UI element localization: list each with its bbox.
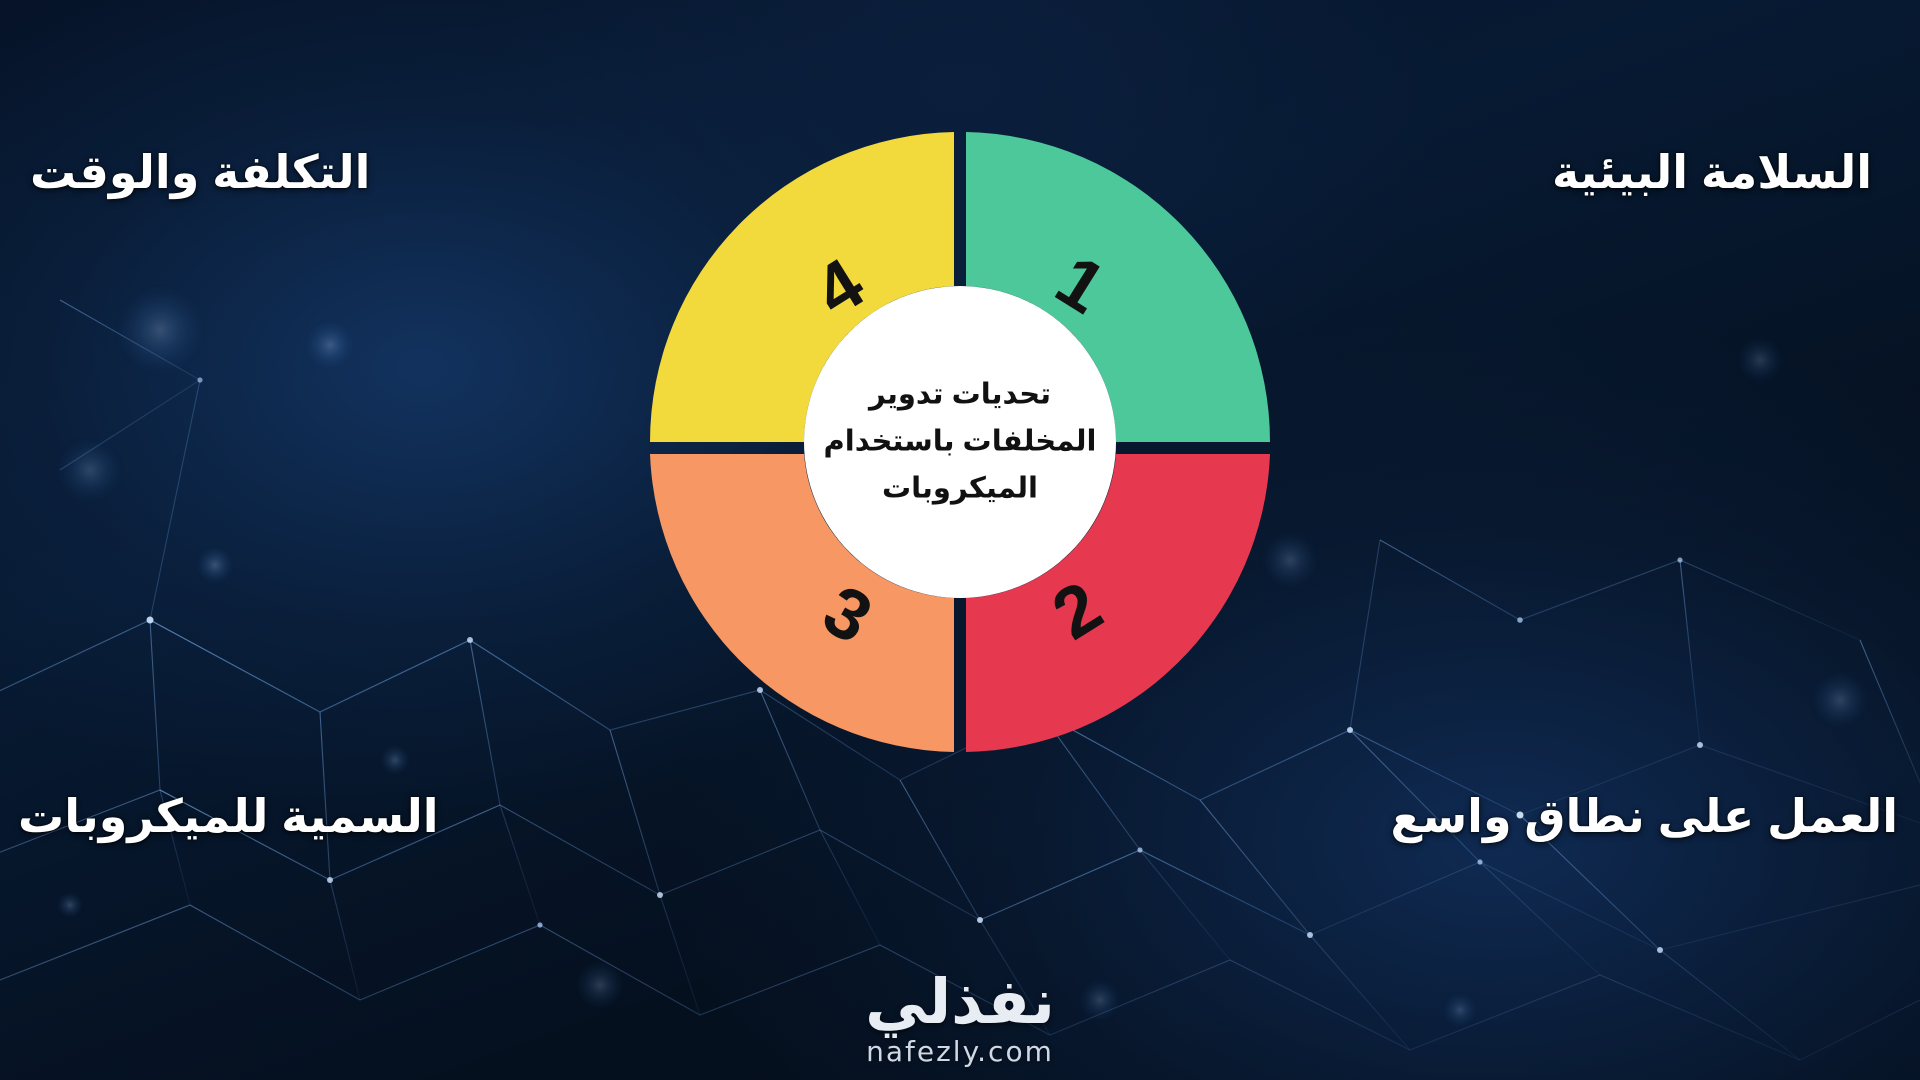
segment-label-4: التكلفة والوقت [30,146,370,199]
logo-domain-text: nafezly.com [865,1035,1055,1068]
site-logo: نفذلي nafezly.com [865,971,1055,1068]
logo-wordmark-arabic: نفذلي [865,971,1055,1033]
center-circle [804,286,1116,598]
segment-label-1: السلامة البيئية [1552,146,1872,199]
donut-chart-svg: 1 2 3 4 [610,92,1310,792]
infographic-canvas: السلامة البيئية العمل على نطاق واسع السم… [0,0,1920,1080]
segment-label-3: السمية للميكروبات [18,790,439,843]
segment-label-2: العمل على نطاق واسع [1391,790,1898,843]
donut-chart: 1 2 3 4 تحديات تدوير المخلفات باستخدام ا… [610,92,1310,792]
